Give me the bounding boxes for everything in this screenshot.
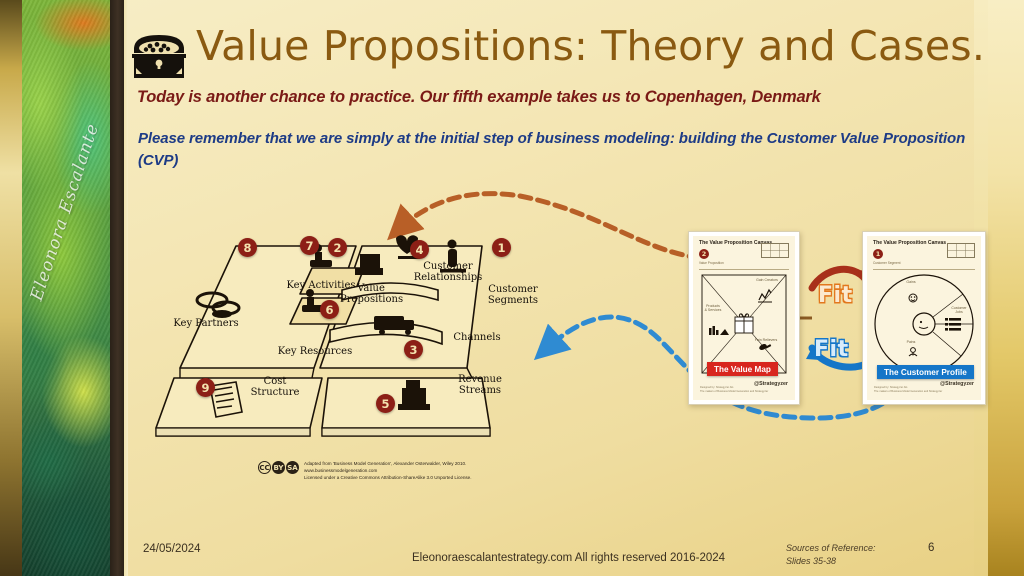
footer-sources-line1: Sources of Reference:	[786, 542, 876, 555]
cc-mark-sa: SA	[286, 461, 299, 474]
decorative-leaf-strip: Eleonora Escalante	[0, 0, 110, 576]
value-map-tag: The Value Map	[707, 362, 778, 376]
canvas-grid-icon	[761, 243, 789, 258]
footer-page-number: 6	[928, 542, 934, 554]
value-map-badge: 2	[699, 249, 709, 259]
creative-commons-icon: CC BY SA	[258, 461, 299, 474]
bmc-label-value-propositions: Value Propositions	[340, 283, 402, 305]
bmc-isometric-board	[152, 228, 572, 443]
bmc-badge-5[interactable]: 5	[376, 394, 395, 413]
caption-pains: Pains	[897, 340, 925, 344]
cc-mark-by: BY	[272, 461, 285, 474]
footer-sources-line2: Slides 35-38	[786, 555, 876, 568]
bmc-badge-8[interactable]: 8	[238, 238, 257, 257]
treasure-chest-icon	[128, 27, 190, 83]
bmc-badge-4[interactable]: 4	[410, 240, 429, 259]
value-map-square-diagram	[701, 274, 787, 374]
bmc-label-channels: Channels	[452, 332, 502, 343]
attribution-text: Adapted from 'Business Model Generation'…	[304, 460, 472, 481]
bmc-label-key-partners: Key Partners	[168, 318, 244, 329]
caption-gain-creators: Gain Creators	[745, 278, 789, 282]
customer-profile-circle-diagram	[873, 272, 975, 376]
bmc-label-customer-relationships: Customer Relationships	[388, 261, 508, 283]
slide-subtitle: Today is another chance to practice. Our…	[137, 88, 987, 107]
page-title: Value Propositions: Theory and Cases.	[196, 24, 986, 69]
left-light-divider	[124, 0, 128, 576]
bmc-badge-1[interactable]: 1	[492, 238, 511, 257]
bmc-badge-9[interactable]: 9	[196, 378, 215, 397]
creative-commons-attribution: CC BY SA Adapted from 'Business Model Ge…	[258, 460, 488, 481]
right-gold-band	[988, 0, 1024, 576]
gold-edge-gradient	[0, 0, 24, 576]
customer-profile-divider	[873, 269, 975, 270]
bmc-badge-3[interactable]: 3	[404, 340, 423, 359]
slide-note: Please remember that we are simply at th…	[138, 128, 994, 172]
footer-date: 24/05/2024	[143, 543, 201, 555]
footer-sources: Sources of Reference: Slides 35-38	[786, 542, 876, 568]
fit-label-top: Fit	[818, 283, 853, 308]
slide-canvas: Eleonora Escalante Value Propositions: T…	[0, 0, 1024, 576]
value-map-inner: The Value Proposition Canvas 2 Value Pro…	[693, 236, 795, 400]
customer-profile-strategyzer: @Strategyzer	[940, 381, 974, 387]
bmc-label-revenue-streams: Revenue Streams	[448, 374, 512, 396]
caption-pain-relievers: Pain Relievers	[743, 338, 789, 342]
customer-profile-subheader: Customer Segment	[873, 261, 900, 265]
fit-label-bottom: Fit	[814, 337, 849, 362]
caption-gains: Gains	[897, 280, 925, 284]
bmc-label-cost-structure: Cost Structure	[244, 376, 306, 398]
canvas-grid-icon	[947, 243, 975, 258]
customer-profile-inner: The Value Proposition Canvas 1 Customer …	[867, 236, 981, 400]
value-map-subheader: Value Proposition	[699, 261, 724, 265]
caption-products-services: Products & Services	[698, 304, 728, 313]
bmc-badge-7[interactable]: 7	[300, 236, 319, 255]
cc-mark-cc: CC	[258, 461, 271, 474]
left-dark-divider	[110, 0, 124, 576]
bmc-label-customer-segments: Customer Segments	[482, 284, 544, 306]
caption-customer-jobs: Customer Jobs	[943, 306, 975, 315]
value-map-footnote: Designed by: Strategyzer AG The makers o…	[700, 386, 768, 394]
bmc-badge-6[interactable]: 6	[320, 300, 339, 319]
footer-copyright: Eleonoraescalantestrategy.com All rights…	[412, 552, 725, 564]
value-map-divider	[699, 269, 789, 270]
customer-profile-badge: 1	[873, 249, 883, 259]
value-proposition-canvas-customer-profile[interactable]: The Value Proposition Canvas 1 Customer …	[862, 231, 986, 405]
customer-profile-header: The Value Proposition Canvas	[873, 240, 946, 246]
business-model-canvas: Key Partners Key Activities Key Resource…	[152, 228, 572, 443]
value-proposition-canvas-value-map[interactable]: The Value Proposition Canvas 2 Value Pro…	[688, 231, 800, 405]
customer-profile-footnote: Designed by: Strategyzer AG The makers o…	[874, 386, 942, 394]
customer-profile-tag: The Customer Profile	[877, 365, 974, 379]
bmc-label-key-resources: Key Resources	[272, 346, 358, 357]
